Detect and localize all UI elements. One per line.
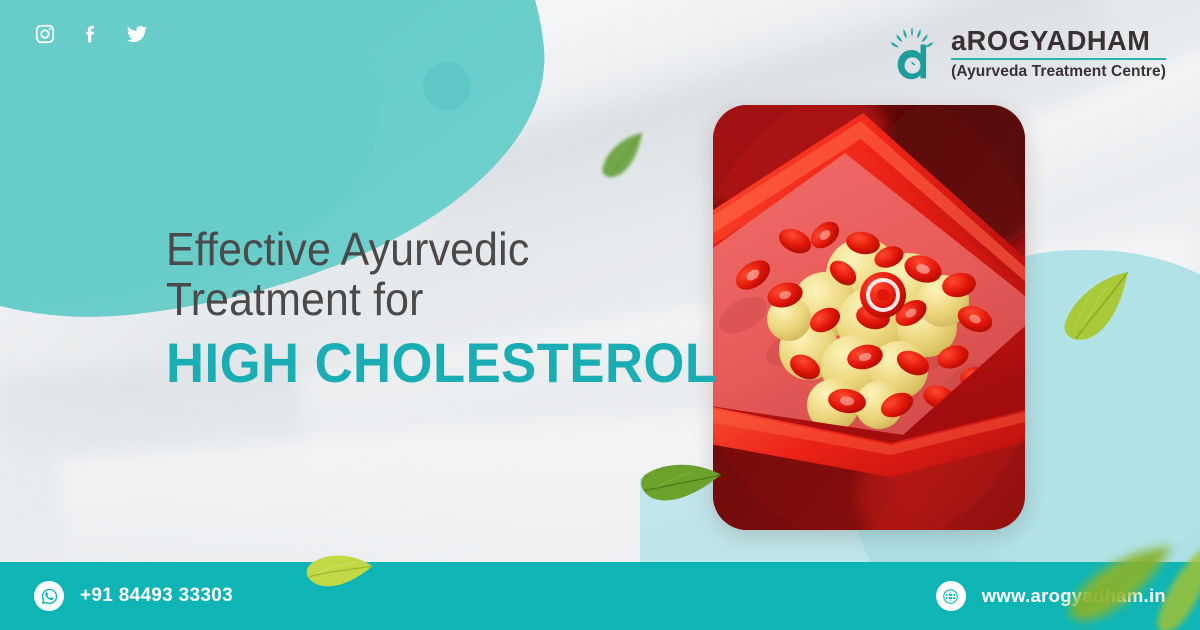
facebook-icon[interactable] [80, 23, 102, 45]
leaf-icon [591, 128, 658, 187]
headline-line-1: Effective Ayurvedic [166, 224, 650, 274]
headline-line-2: Treatment for [166, 274, 650, 324]
promotional-banner: aROGYADHAM (Ayurveda Treatment Centre) E… [0, 0, 1200, 630]
brand-logo[interactable]: aROGYADHAM (Ayurveda Treatment Centre) [885, 22, 1166, 84]
leaf-icon [1145, 537, 1200, 630]
whatsapp-icon [34, 581, 64, 611]
arogyadham-leaf-logo-icon [885, 22, 939, 84]
phone-number: +91 84493 33303 [80, 585, 233, 607]
social-links [34, 23, 148, 45]
logo-text-block: aROGYADHAM (Ayurveda Treatment Centre) [951, 26, 1166, 81]
teal-dot-accent [423, 62, 471, 110]
brand-name: aROGYADHAM [951, 26, 1159, 56]
twitter-icon[interactable] [126, 23, 148, 45]
phone-contact[interactable]: +91 84493 33303 [34, 581, 233, 611]
headline-block: Effective Ayurvedic Treatment for HIGH C… [166, 224, 686, 394]
globe-icon [936, 581, 966, 611]
headline-line-3-highlight: HIGH CHOLESTEROL [166, 332, 655, 394]
footer-bar: +91 84493 33303 www.arogyadham.in [0, 562, 1200, 630]
instagram-icon[interactable] [34, 23, 56, 45]
artery-cholesterol-illustration [713, 105, 1025, 530]
brand-tagline: (Ayurveda Treatment Centre) [951, 63, 1166, 81]
logo-divider [951, 58, 1166, 60]
